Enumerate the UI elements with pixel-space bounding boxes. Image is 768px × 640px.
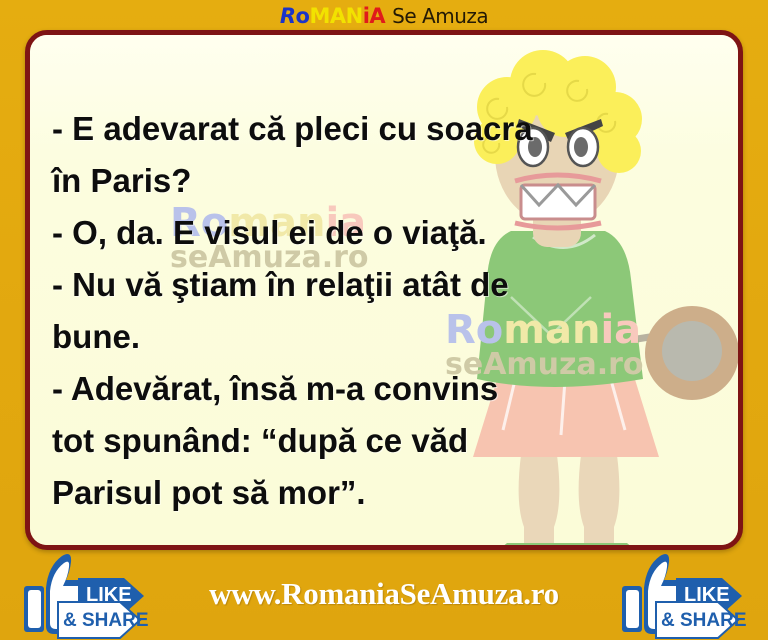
joke-line: Parisul pot să mor”. <box>52 467 738 519</box>
logo-letter-r: R <box>280 4 296 28</box>
logo-letter-a: A <box>369 4 385 28</box>
meme-panel: Romania seAmuza.ro <box>25 30 743 550</box>
joke-line: în Paris? <box>52 155 738 207</box>
joke-line: - Adevărat, însă m-a convins <box>52 363 738 415</box>
share-label: & SHARE <box>661 610 747 631</box>
logo-script-text: Se Amuza <box>392 4 488 28</box>
joke-line: - Nu vă ştiam în relaţii atât de <box>52 259 738 311</box>
share-label: & SHARE <box>63 610 149 631</box>
meme-image: RoMANiASe Amuza Romania seAmuza.ro <box>0 0 768 640</box>
joke-line: tot spunând: “după ce văd <box>52 415 738 467</box>
sandal-right <box>555 543 639 545</box>
footer-url[interactable]: www.RomaniaSeAmuza.ro <box>0 576 768 612</box>
site-logo[interactable]: RoMANiASe Amuza <box>0 2 768 30</box>
joke-text: - E adevarat că pleci cu soacra în Paris… <box>52 103 738 519</box>
joke-line: - E adevarat că pleci cu soacra <box>52 103 738 155</box>
logo-letters-man: MAN <box>309 4 362 28</box>
logo-letter-o: o <box>296 4 310 28</box>
meme-panel-inner: Romania seAmuza.ro <box>30 35 738 545</box>
joke-line: bune. <box>52 311 738 363</box>
joke-line: - O, da. E visul ei de o viaţă. <box>52 207 738 259</box>
